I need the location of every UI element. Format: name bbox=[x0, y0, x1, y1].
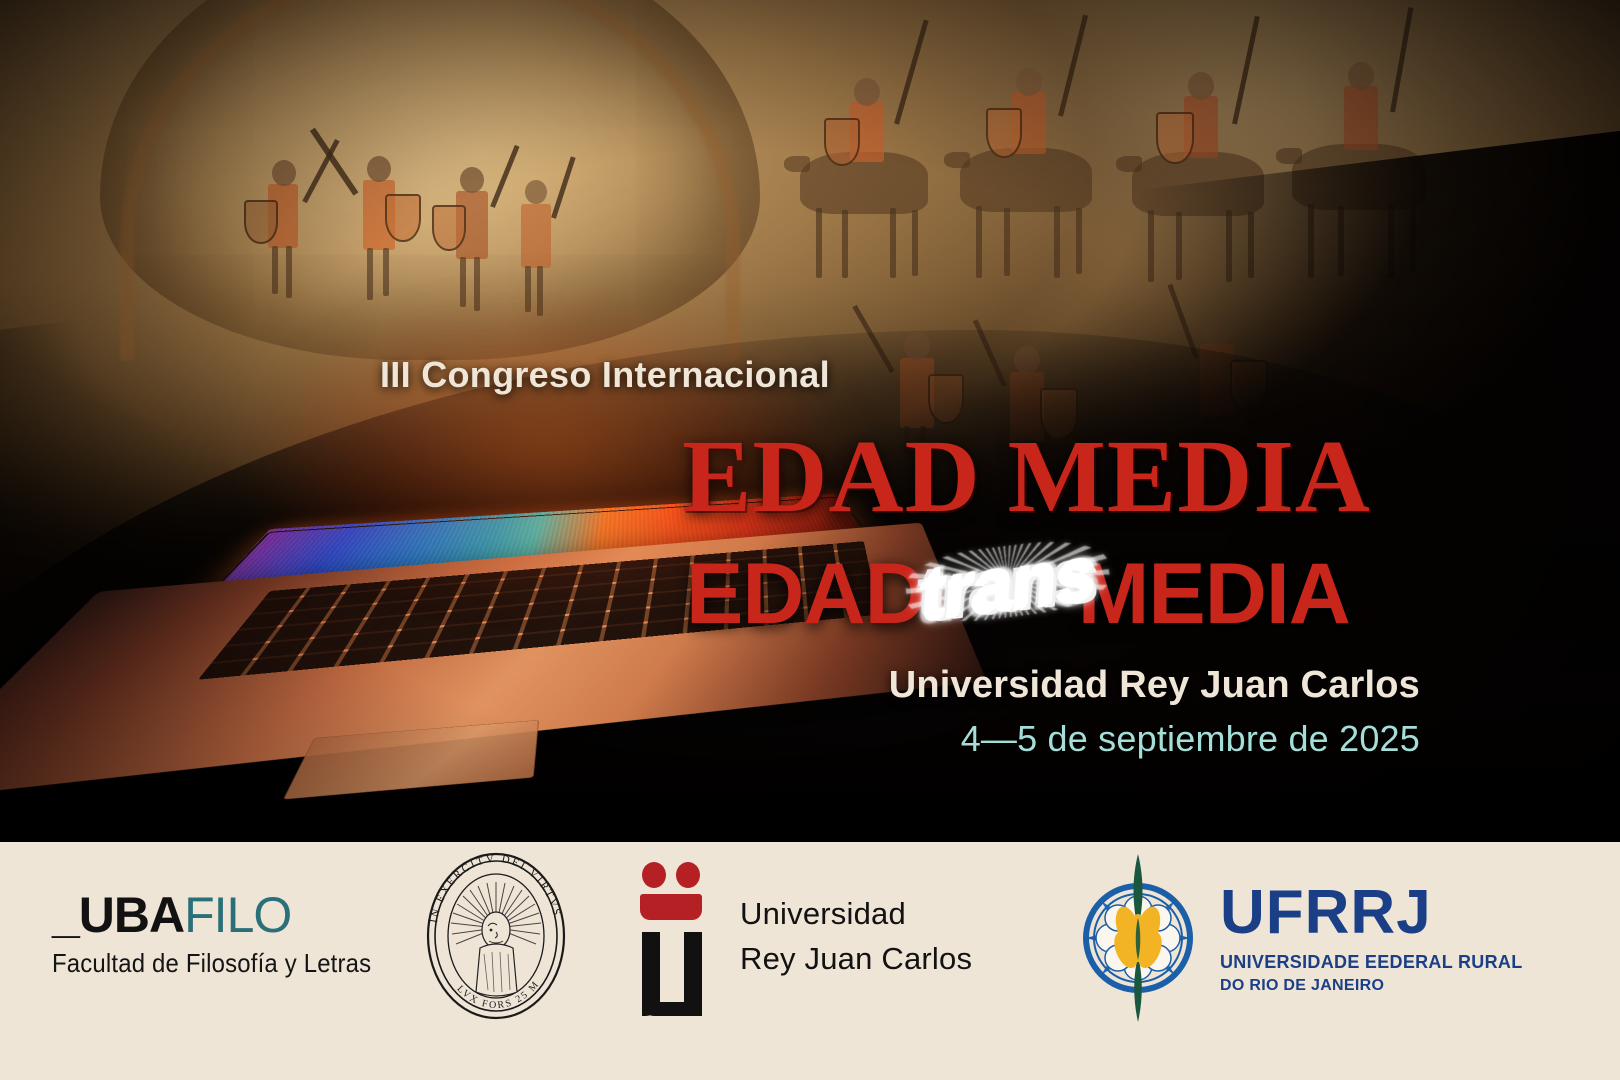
ufrrj-line-1: UNIVERSIDADE EEDERAL RURAL bbox=[1220, 953, 1523, 971]
logo-uba-filo[interactable]: _UBAFILO Facultad de Filosofía y Letras bbox=[52, 890, 399, 979]
knight-figure bbox=[250, 150, 320, 310]
logo-ufrrj[interactable]: UFRRJ UNIVERSIDADE EEDERAL RURAL DO RIO … bbox=[1072, 852, 1523, 1024]
urjc-line-2: Rey Juan Carlos bbox=[740, 937, 972, 982]
title-word-trans: trans bbox=[915, 534, 1100, 637]
venue-name: Universidad Rey Juan Carlos bbox=[0, 664, 1420, 707]
conference-poster: III Congreso Internacional EDAD MEDIA ED… bbox=[0, 0, 1620, 1080]
uba-bold-text: _UBA bbox=[52, 887, 184, 943]
urjc-u-icon bbox=[640, 862, 714, 988]
ufrrj-acronym: UFRRJ bbox=[1220, 882, 1523, 944]
seal-icon: IN EXERCITV DEI VIRTVS LVX FORS 25 M bbox=[418, 848, 574, 1024]
urjc-line-1: Universidad bbox=[740, 892, 972, 937]
logo-urjc[interactable]: Universidad Rey Juan Carlos bbox=[640, 862, 972, 988]
ufrrj-line-2: DO RIO DE JANEIRO bbox=[1220, 978, 1523, 994]
title-line-1: EDAD MEDIA bbox=[682, 425, 1382, 529]
logo-university-seal[interactable]: IN EXERCITV DEI VIRTVS LVX FORS 25 M bbox=[418, 848, 574, 1024]
congress-kicker: III Congreso Internacional bbox=[380, 354, 830, 396]
uba-light-text: FILO bbox=[184, 887, 291, 943]
urjc-wordmark: Universidad Rey Juan Carlos bbox=[740, 892, 972, 988]
title-word-media: MEDIA bbox=[1078, 548, 1350, 640]
title-line-2: EDADtransMEDIA bbox=[686, 548, 1466, 640]
event-dates: 4—5 de septiembre de 2025 bbox=[0, 718, 1420, 760]
ufrrj-compass-icon bbox=[1072, 852, 1204, 1024]
ufrrj-wordmark: UFRRJ UNIVERSIDADE EEDERAL RURAL DO RIO … bbox=[1220, 882, 1523, 994]
uba-wordmark: _UBAFILO bbox=[52, 890, 399, 940]
uba-faculty-name: Facultad de Filosofía y Letras bbox=[52, 948, 371, 979]
title-word-edad: EDAD bbox=[686, 548, 926, 640]
